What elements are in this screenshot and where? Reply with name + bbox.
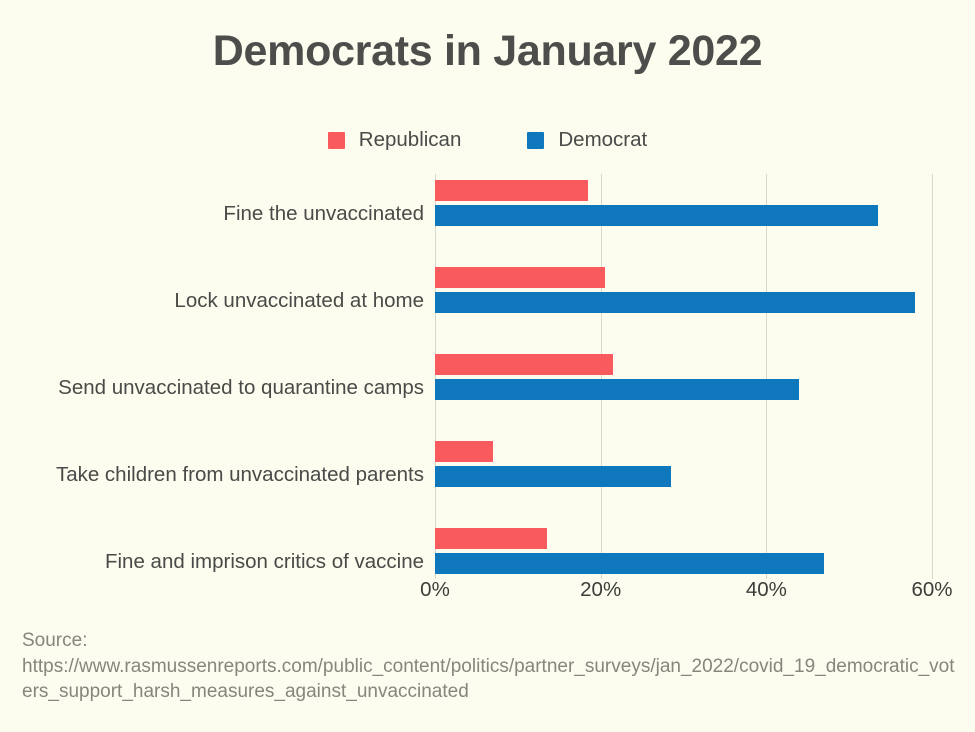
chart-row: Lock unvaccinated at home (0, 257, 975, 344)
x-tick-label: 40% (746, 578, 787, 602)
bar-republican[interactable] (435, 441, 493, 462)
legend-label-democrat: Democrat (558, 128, 647, 152)
x-tick-label: 0% (420, 578, 450, 602)
chart-title: Democrats in January 2022 (0, 28, 975, 75)
chart-row: Take children from unvaccinated parents (0, 431, 975, 518)
source-url: https://www.rasmussenreports.com/public_… (22, 654, 957, 705)
bar-democrat[interactable] (435, 553, 824, 574)
chart-row: Fine the unvaccinated (0, 170, 975, 257)
bar-republican[interactable] (435, 528, 547, 549)
x-tick-label: 20% (580, 578, 621, 602)
category-label: Fine and imprison critics of vaccine (105, 550, 424, 574)
bar-democrat[interactable] (435, 379, 799, 400)
bar-democrat[interactable] (435, 292, 915, 313)
bar-democrat[interactable] (435, 466, 671, 487)
legend-swatch-democrat-icon (527, 132, 544, 149)
legend-item-democrat[interactable]: Democrat (527, 128, 647, 152)
bar-republican[interactable] (435, 180, 588, 201)
chart-x-axis: 0%20%40%60% (0, 578, 975, 608)
chart-legend: Republican Democrat (0, 128, 975, 152)
chart-plot-area: Fine the unvaccinatedLock unvaccinated a… (0, 170, 975, 582)
legend-label-republican: Republican (359, 128, 462, 152)
bar-republican[interactable] (435, 267, 605, 288)
legend-item-republican[interactable]: Republican (328, 128, 462, 152)
category-label: Take children from unvaccinated parents (56, 463, 424, 487)
category-label: Fine the unvaccinated (223, 202, 424, 226)
source-note: Source: https://www.rasmussenreports.com… (22, 628, 957, 705)
bar-democrat[interactable] (435, 205, 878, 226)
chart-bar-rows: Fine the unvaccinatedLock unvaccinated a… (0, 170, 975, 582)
x-tick-label: 60% (911, 578, 952, 602)
source-label: Source: (22, 628, 957, 654)
category-label: Send unvaccinated to quarantine camps (58, 376, 424, 400)
bar-republican[interactable] (435, 354, 613, 375)
chart-row: Send unvaccinated to quarantine camps (0, 344, 975, 431)
category-label: Lock unvaccinated at home (174, 289, 424, 313)
legend-swatch-republican-icon (328, 132, 345, 149)
